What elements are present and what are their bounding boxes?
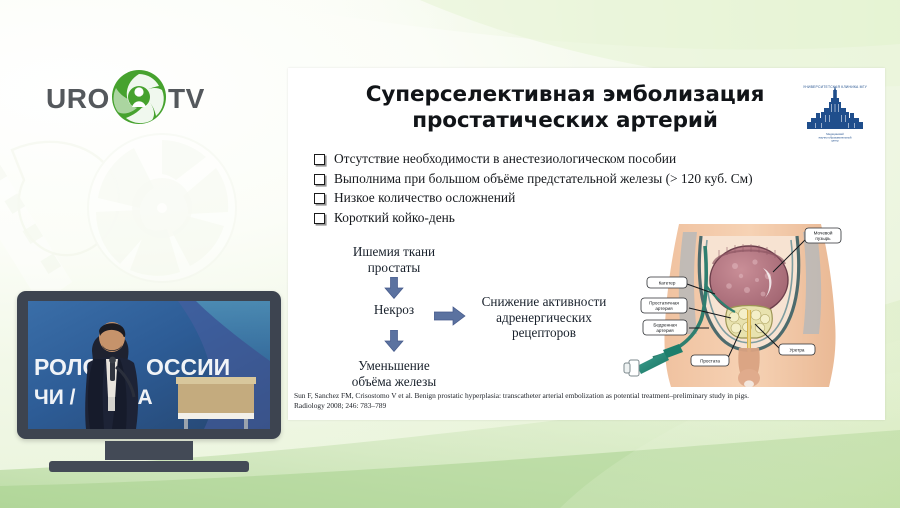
tv-stand-neck xyxy=(105,441,193,460)
slide-title-line-1: Суперселективная эмболизация xyxy=(366,82,765,107)
urotv-circle-emblem-icon xyxy=(112,70,166,124)
checkbox-bullet-icon xyxy=(314,174,325,185)
slide-title: Суперселективная эмболизация простатичес… xyxy=(330,82,800,134)
anatomy-label-prostatic-artery: Простатичная артерия xyxy=(641,298,687,313)
flow-node-adrenergic-line-1: Снижение активности xyxy=(482,294,607,309)
citation-line-2: Radiology 2008; 246: 783–789 xyxy=(294,401,874,411)
anatomy-label-urethra: Уретра xyxy=(779,344,815,355)
list-item: Выполнима при большом объёме предстатель… xyxy=(314,171,859,188)
svg-text:Мочевой: Мочевой xyxy=(814,230,833,236)
anatomy-label-prostate: Простата xyxy=(691,355,729,366)
svg-text:ЧИ /: ЧИ / xyxy=(34,386,76,409)
arrow-down-icon xyxy=(384,277,404,299)
video-screen[interactable]: РОЛО ОССИИ ЧИ / 9 А xyxy=(28,301,270,429)
anatomy-label-catheter: Катетер xyxy=(647,277,687,288)
checkbox-bullet-icon xyxy=(314,154,325,165)
film-reel-watermark xyxy=(0,122,269,307)
svg-text:TV: TV xyxy=(168,83,204,114)
citation-line-1: Sun F, Sanchez FM, Crisostomo V et al. B… xyxy=(294,391,749,400)
svg-text:ОССИИ: ОССИИ xyxy=(146,354,230,380)
flow-node-adrenergic-line-2: адренергических xyxy=(496,310,592,325)
arrow-down-icon xyxy=(384,330,404,352)
anatomy-diagram: Мочевой пузырь Катетер Простатичная арте… xyxy=(623,224,871,387)
citation: Sun F, Sanchez FM, Crisostomo V et al. B… xyxy=(294,391,874,411)
svg-text:Катетер: Катетер xyxy=(659,281,676,286)
anatomy-label-femoral-artery: Бедренная артерия xyxy=(643,320,687,335)
flow-node-ischemia-line-1: Ишемия ткани xyxy=(353,244,435,259)
tv-bezel: РОЛО ОССИИ ЧИ / 9 А xyxy=(17,291,281,439)
presentation-slide: Суперселективная эмболизация простатичес… xyxy=(288,68,885,420)
flow-node-adrenergic: Снижение активности адренергических реце… xyxy=(468,294,620,341)
presentation-canvas: URO TV xyxy=(0,0,900,508)
bullet-list: Отсутствие необходимости в анестезиологи… xyxy=(314,151,859,229)
flow-node-ischemia-line-2: простаты xyxy=(368,260,421,275)
bullet-text: Выполнима при большом объёме предстатель… xyxy=(334,171,753,188)
flow-node-necrosis: Некроз xyxy=(342,302,446,318)
svg-text:центр: центр xyxy=(831,139,839,142)
flow-node-volume-reduction-line-2: объёма железы xyxy=(352,374,437,389)
bullet-text: Низкое количество осложнений xyxy=(334,190,515,207)
msu-university-clinic-logo: УНИВЕРСИТЕТСКАЯ КЛИНИКА МГУ xyxy=(799,80,871,142)
list-item: Отсутствие необходимости в анестезиологи… xyxy=(314,151,859,168)
checkbox-bullet-icon xyxy=(314,193,325,204)
svg-text:Простатичная: Простатичная xyxy=(649,301,679,306)
svg-text:пузырь: пузырь xyxy=(815,236,831,241)
urotv-logo[interactable]: URO TV xyxy=(44,66,204,128)
slide-title-line-2: простатических артерий xyxy=(330,108,800,134)
svg-text:артерия: артерия xyxy=(656,328,674,333)
video-player-tv[interactable]: РОЛО ОССИИ ЧИ / 9 А xyxy=(17,291,281,477)
svg-text:Бедренная: Бедренная xyxy=(653,323,677,328)
flow-node-volume-reduction-line-1: Уменьшение xyxy=(358,358,429,373)
flow-node-volume-reduction: Уменьшение объёма железы xyxy=(324,358,464,389)
arrow-right-icon xyxy=(434,306,466,326)
tv-stand-base xyxy=(49,461,249,472)
anatomy-label-bladder: Мочевой пузырь xyxy=(805,228,841,243)
flow-node-ischemia: Ишемия ткани простаты xyxy=(328,244,460,275)
svg-text:артерия: артерия xyxy=(655,306,673,311)
svg-text:Уретра: Уретра xyxy=(790,348,805,353)
mechanism-flowchart: Ишемия ткани простаты Некроз У xyxy=(316,244,626,394)
bullet-text: Отсутствие необходимости в анестезиологи… xyxy=(334,151,676,168)
checkbox-bullet-icon xyxy=(314,213,325,224)
list-item: Низкое количество осложнений xyxy=(314,190,859,207)
svg-text:URO: URO xyxy=(46,83,110,114)
flow-node-adrenergic-line-3: рецепторов xyxy=(512,325,576,340)
bullet-text: Короткий койко-день xyxy=(334,210,455,227)
svg-text:Простата: Простата xyxy=(700,359,720,364)
